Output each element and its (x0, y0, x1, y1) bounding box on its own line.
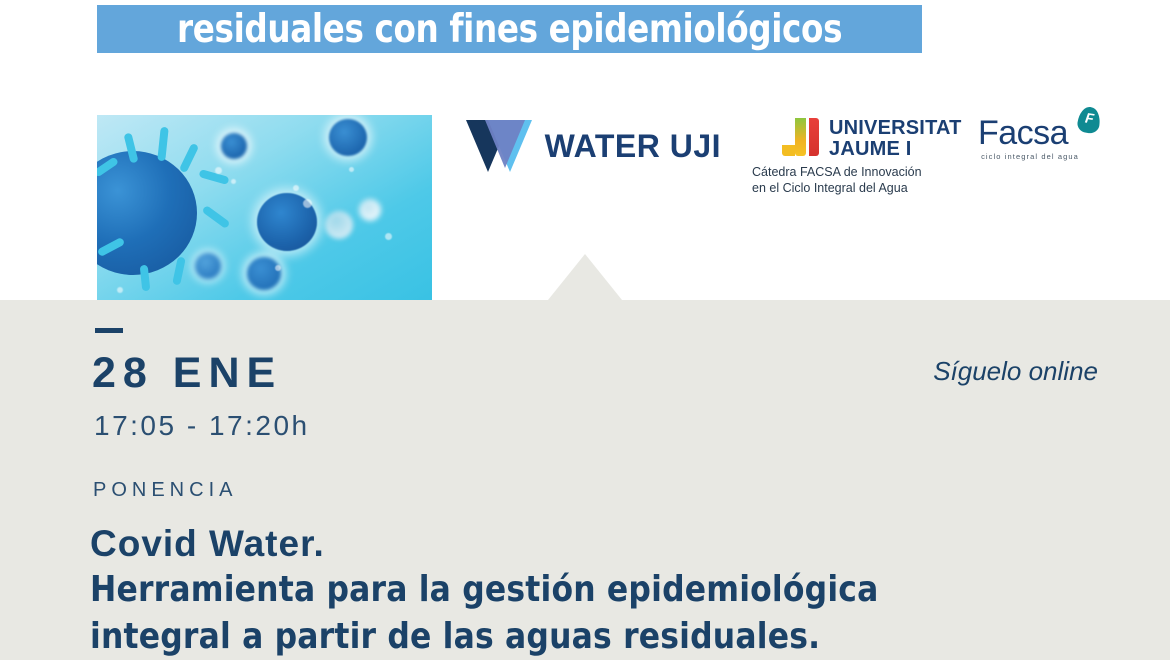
section-arrow-icon (548, 254, 622, 300)
facsa-logo-text: Facsa F (978, 116, 1096, 150)
bubble-icon (231, 179, 236, 184)
virus-spike-icon (157, 127, 169, 162)
event-date: 28 ENE (92, 352, 282, 395)
virus-spike-icon (172, 256, 186, 285)
virus-particle-small-icon (329, 119, 367, 156)
uji-logo: UNIVERSITAT JAUME I Cátedra FACSA de Inn… (752, 118, 964, 204)
virus-spike-icon (179, 143, 199, 173)
uji-letter-i-icon (809, 118, 819, 156)
virus-particle-small-icon (195, 253, 221, 279)
headline-banner: residuales con fines epidemiológicos (97, 5, 922, 53)
session-type-kicker: PONENCIA (93, 480, 237, 500)
bubble-icon (385, 233, 392, 240)
bubble-icon (275, 265, 281, 271)
virus-spike-icon (202, 205, 231, 229)
uji-chair-subtitle-line2: en el Ciclo Integral del Agua (752, 181, 964, 197)
bubble-icon (293, 185, 299, 191)
event-time: 17:05 - 17:20h (94, 412, 310, 440)
water-uji-logo: WATER UJI (466, 118, 721, 174)
bubble-icon (117, 287, 123, 293)
uji-letter-u-icon (752, 118, 779, 156)
bubble-icon (303, 199, 312, 208)
facsa-droplet-letter: F (1077, 110, 1101, 127)
talk-title-line2: Herramienta para la gestión epidemiológi… (90, 567, 1070, 614)
water-uji-logo-text: WATER UJI (545, 128, 721, 165)
water-uji-w-mark-icon (466, 120, 532, 172)
virus-particle-small-icon (359, 199, 381, 221)
uji-chair-subtitle: Cátedra FACSA de Innovación en el Ciclo … (752, 165, 964, 196)
facsa-logo: Facsa F ciclo integral del agua (978, 116, 1096, 162)
talk-title-line3: integral a partir de las aguas residuale… (90, 614, 1070, 661)
virus-spike-icon (198, 169, 229, 185)
uji-chair-subtitle-line1: Cátedra FACSA de Innovación (752, 165, 964, 181)
uji-name-line1: UNIVERSITAT (829, 118, 962, 139)
coronavirus-photo (97, 115, 432, 300)
uji-logo-top-row: UNIVERSITAT JAUME I (752, 118, 964, 159)
follow-online-label: Síguelo online (933, 358, 1098, 384)
facsa-wordmark: Facsa (978, 114, 1068, 152)
bubble-icon (215, 167, 222, 174)
talk-title: Covid Water. Herramienta para la gestión… (90, 520, 1100, 661)
uji-name-line2: JAUME I (829, 139, 962, 160)
uji-letter-j-icon (782, 118, 806, 156)
date-accent-dash (95, 328, 123, 333)
uji-university-name: UNIVERSITAT JAUME I (829, 118, 962, 159)
uji-colored-letters-icon (752, 118, 819, 156)
talk-title-line1: Covid Water. (90, 520, 1100, 567)
virus-particle-small-icon (325, 211, 353, 239)
virus-particle-small-icon (247, 257, 281, 290)
facsa-tagline: ciclo integral del agua (978, 152, 1082, 161)
bubble-icon (349, 167, 354, 172)
virus-particle-small-icon (221, 133, 247, 159)
w-center-triangle-icon (485, 120, 525, 168)
headline-banner-text: residuales con fines epidemiológicos (177, 10, 842, 49)
